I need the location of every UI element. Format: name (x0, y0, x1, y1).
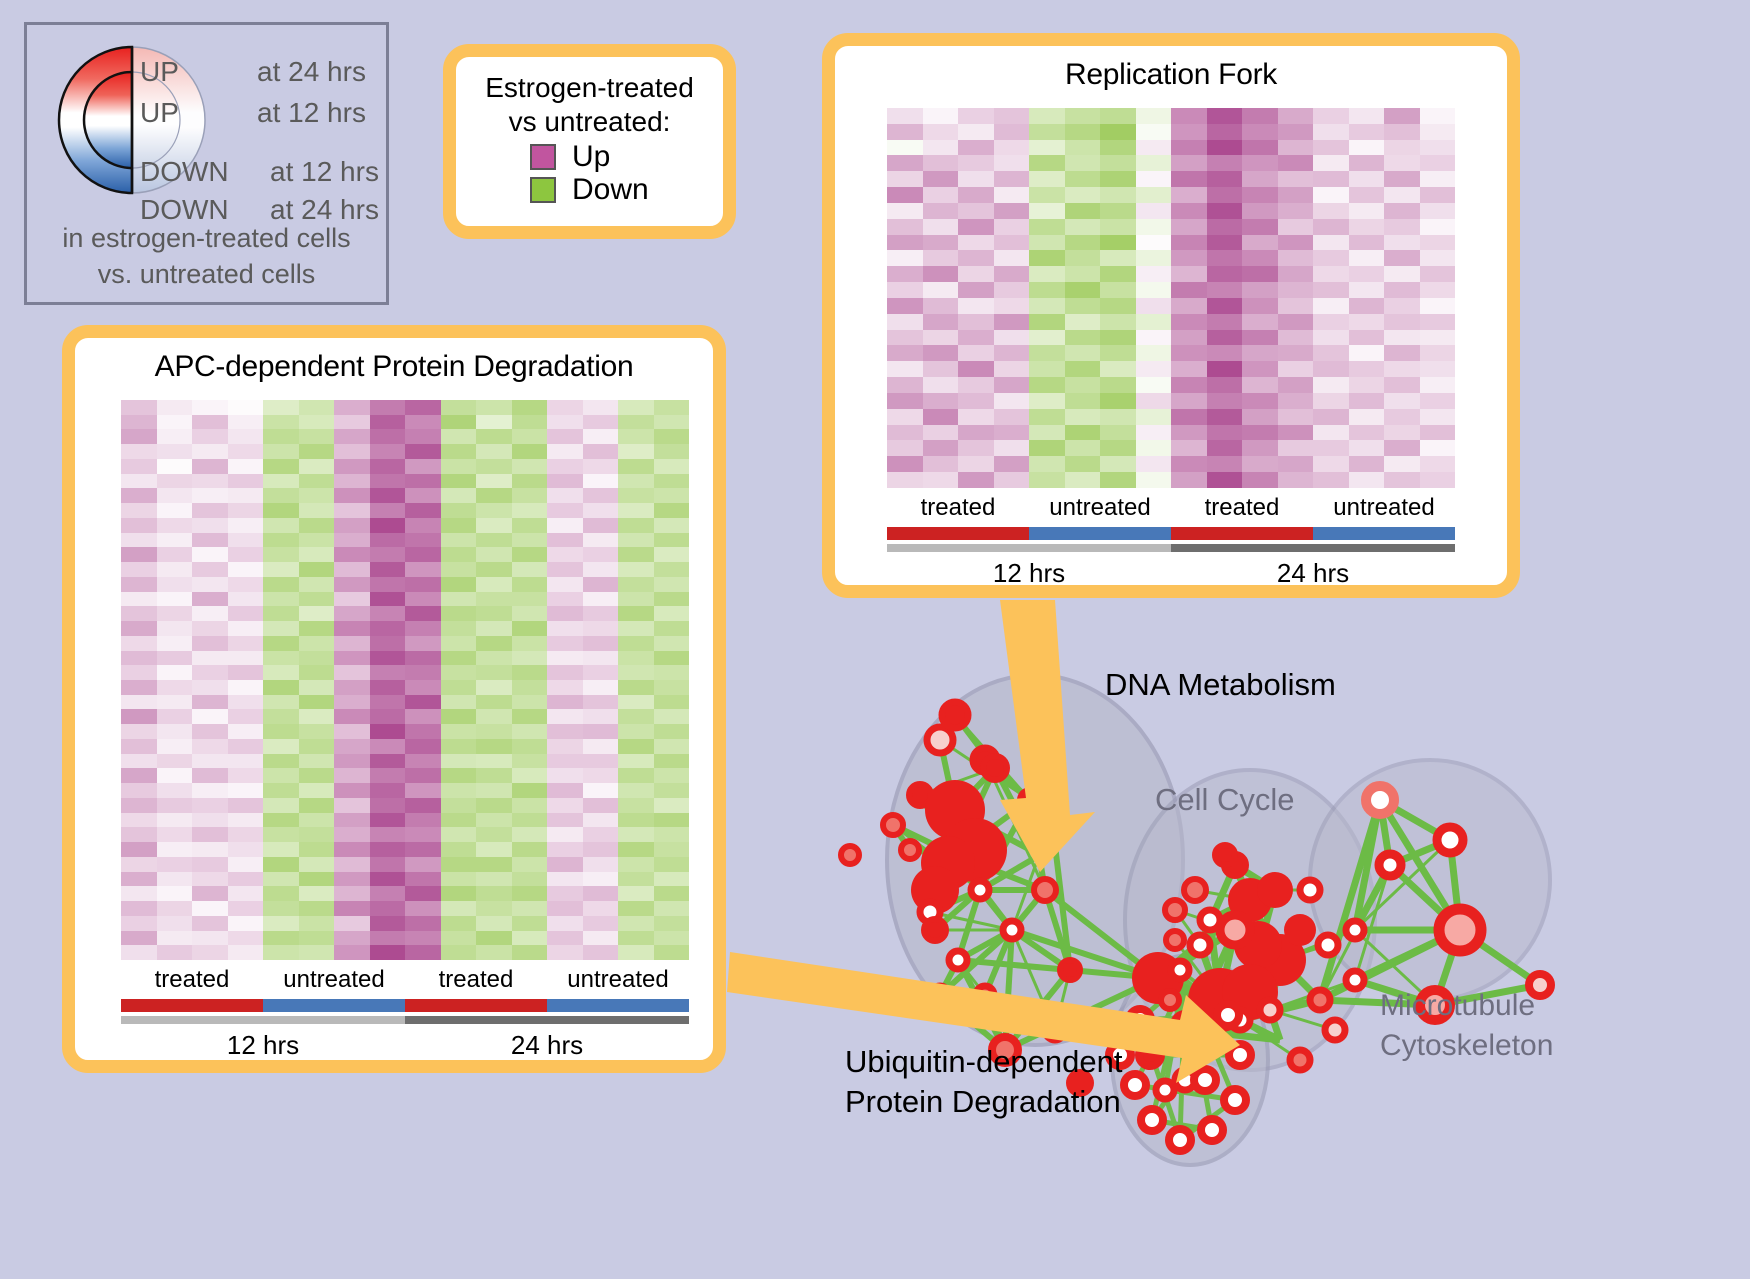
heatmap-cell (547, 754, 583, 769)
heatmap-cell (958, 219, 994, 235)
heatmap-cell (192, 621, 228, 636)
heatmap-cell (405, 562, 441, 577)
heatmap-cell (299, 429, 335, 444)
treatment-bar-treated-24 (405, 999, 547, 1012)
heatmap-cell (583, 636, 619, 651)
heatmap-cell (228, 533, 264, 548)
pathway-network-diagram: DNA Metabolism Cell Cycle Microtubule Cy… (780, 600, 1750, 1279)
heatmap-cell (405, 754, 441, 769)
heatmap-cell (370, 827, 406, 842)
heatmap-cell (476, 533, 512, 548)
heatmap-cell (441, 680, 477, 695)
heatmap-cell (1278, 124, 1314, 140)
heatmap-cell (157, 680, 193, 695)
heatmap-cell (547, 518, 583, 533)
heatmap-cell (405, 415, 441, 430)
heatmap-cell (994, 314, 1030, 330)
heatmap-cell (1420, 361, 1456, 377)
heatmap-cell (370, 886, 406, 901)
legend-item-down: Down (530, 175, 723, 205)
heatmap-cell (370, 901, 406, 916)
key-row-1-label: UP (140, 97, 179, 129)
heatmap-cell (1207, 456, 1243, 472)
heatmap-cell (192, 474, 228, 489)
heatmap-cell (228, 783, 264, 798)
heatmap-cell (887, 377, 923, 393)
heatmap-cell (512, 547, 548, 562)
heatmap-cell (121, 547, 157, 562)
heatmap-cell (121, 444, 157, 459)
heatmap-cell (192, 798, 228, 813)
heatmap-cell (512, 901, 548, 916)
heatmap-cell (1384, 409, 1420, 425)
heatmap-cell (994, 282, 1030, 298)
heatmap-cell (334, 695, 370, 710)
heatmap-cell (157, 768, 193, 783)
heatmap-cell (1278, 250, 1314, 266)
heatmap-cell (476, 503, 512, 518)
heatmap-cell (405, 665, 441, 680)
heatmap-cell (476, 592, 512, 607)
heatmap-cell (192, 886, 228, 901)
heatmap-cell (547, 709, 583, 724)
heatmap-cell (1349, 472, 1385, 488)
heatmap-cell (958, 298, 994, 314)
heatmap-cell (1242, 219, 1278, 235)
heatmap-cell (334, 901, 370, 916)
timepoint-bar-24hrs (405, 1016, 689, 1024)
heatmap-cell (441, 606, 477, 621)
heatmap-cell (476, 872, 512, 887)
heatmap-cell (1207, 187, 1243, 203)
heatmap-cell (958, 377, 994, 393)
treatment-bar-untreated-12 (263, 999, 405, 1012)
heatmap-cell (1349, 314, 1385, 330)
heatmap-cell (547, 872, 583, 887)
heatmap-cell (299, 547, 335, 562)
heatmap-cell (1384, 203, 1420, 219)
heatmap-cell (1313, 282, 1349, 298)
heatmap-cell (263, 916, 299, 931)
heatmap-cell (1065, 393, 1101, 409)
heatmap-cell (370, 724, 406, 739)
heatmap-cell (299, 488, 335, 503)
heatmap-cell (887, 472, 923, 488)
heatmap-cell (1207, 393, 1243, 409)
heatmap-cell (121, 798, 157, 813)
heatmap-cell (923, 377, 959, 393)
heatmap-cell (512, 754, 548, 769)
heatmap-cell (1207, 361, 1243, 377)
heatmap-cell (1278, 472, 1314, 488)
heatmap-cell (299, 459, 335, 474)
heatmap-cell (1242, 203, 1278, 219)
heatmap-cell (192, 488, 228, 503)
heatmap-cell (441, 754, 477, 769)
heatmap-cell (1100, 377, 1136, 393)
heatmap-cell (1349, 187, 1385, 203)
heatmap-cell (618, 518, 654, 533)
heatmap-cell (1171, 361, 1207, 377)
heatmap-cell (1242, 409, 1278, 425)
heatmap-cell (476, 886, 512, 901)
heatmap-cell (958, 124, 994, 140)
heatmap-cell (547, 665, 583, 680)
heatmap-cell (654, 945, 690, 960)
heatmap-cell (405, 503, 441, 518)
heatmap-cell (887, 456, 923, 472)
heatmap-cell (370, 798, 406, 813)
heatmap-cell (1349, 377, 1385, 393)
heatmap-cell (923, 361, 959, 377)
heatmap-cell (263, 857, 299, 872)
heatmap-cell (228, 709, 264, 724)
heatmap-cell (654, 886, 690, 901)
heatmap-cell (1100, 282, 1136, 298)
heatmap-cell (157, 415, 193, 430)
heatmap-cell (476, 916, 512, 931)
heatmap-cell (157, 783, 193, 798)
treatment-bar-treated-24 (1171, 527, 1313, 540)
heatmap-cell (334, 754, 370, 769)
heatmap-cell (1242, 330, 1278, 346)
heatmap-cell (370, 945, 406, 960)
heatmap-cell (887, 140, 923, 156)
heatmap-cell (263, 562, 299, 577)
heatmap-cell (618, 400, 654, 415)
heatmap-cell (1313, 440, 1349, 456)
heatmap-cell (334, 503, 370, 518)
heatmap-cell (547, 901, 583, 916)
heatmap-cell (958, 140, 994, 156)
heatmap-cell (654, 724, 690, 739)
heatmap-cell (370, 518, 406, 533)
heatmap-cell (1313, 298, 1349, 314)
heatmap-cell (618, 886, 654, 901)
heatmap-cell (334, 724, 370, 739)
heatmap-cell (1420, 314, 1456, 330)
heatmap-cell (547, 857, 583, 872)
heatmap-cell (1242, 282, 1278, 298)
heatmap-cell (1349, 298, 1385, 314)
heatmap-cell (263, 606, 299, 621)
heatmap-cell (228, 474, 264, 489)
heatmap-cell (1278, 425, 1314, 441)
heatmap-cell (334, 533, 370, 548)
heatmap-cell (512, 827, 548, 842)
heatmap-cell (512, 651, 548, 666)
heatmap-cell (405, 813, 441, 828)
cluster-label-ubiquitin-line2: Protein Degradation (845, 1084, 1121, 1119)
heatmap-cell (583, 709, 619, 724)
heatmap-cell (405, 488, 441, 503)
heatmap-cell (299, 474, 335, 489)
heatmap-cell (1242, 377, 1278, 393)
heatmap-cell (1278, 377, 1314, 393)
heatmap-cell (228, 768, 264, 783)
heatmap-cell (547, 562, 583, 577)
heatmap-cell (958, 155, 994, 171)
heatmap-cell (121, 709, 157, 724)
heatmap-cell (547, 474, 583, 489)
heatmap-cell (263, 665, 299, 680)
heatmap-cell (1313, 314, 1349, 330)
heatmap-cell (512, 680, 548, 695)
heatmap-cell (512, 724, 548, 739)
heatmap-cell (887, 219, 923, 235)
heatmap-cell (263, 872, 299, 887)
heatmap-cell (1420, 171, 1456, 187)
heatmap-cell (263, 709, 299, 724)
heatmap-cell (958, 314, 994, 330)
heatmap-cell (1065, 266, 1101, 282)
heatmap-cell (263, 429, 299, 444)
heatmap-cell (334, 931, 370, 946)
heatmap-cell (1171, 108, 1207, 124)
heatmap-cell (887, 203, 923, 219)
heatmap-cell (370, 916, 406, 931)
heatmap-cell (334, 872, 370, 887)
heatmap-cell (547, 577, 583, 592)
timepoint-bar-12hrs (121, 1016, 405, 1024)
heatmap-cell (1065, 425, 1101, 441)
heatmap-cell (157, 886, 193, 901)
heatmap-cell (263, 547, 299, 562)
heatmap-cell (1207, 235, 1243, 251)
heatmap-cell (121, 533, 157, 548)
heatmap-cell (958, 361, 994, 377)
heatmap-cell (1171, 155, 1207, 171)
heatmap-cell (1029, 266, 1065, 282)
heatmap-cell (1100, 187, 1136, 203)
heatmap-cell (1029, 108, 1065, 124)
heatmap-cell (370, 842, 406, 857)
legend-down-label: Down (572, 175, 649, 205)
heatmap-cell (512, 709, 548, 724)
heatmap-cell (1278, 330, 1314, 346)
heatmap-cell (263, 488, 299, 503)
heatmap-cell (1100, 393, 1136, 409)
heatmap-cell (476, 488, 512, 503)
heatmap-cell (1065, 330, 1101, 346)
heatmap-cell (1207, 377, 1243, 393)
heatmap-cell (583, 533, 619, 548)
heatmap-cell (263, 813, 299, 828)
heatmap-cell (1384, 266, 1420, 282)
heatmap-cell (1384, 124, 1420, 140)
apc-heatmap (121, 400, 689, 960)
heatmap-cell (887, 250, 923, 266)
heatmap-cell (441, 415, 477, 430)
heatmap-cell (547, 842, 583, 857)
heatmap-cell (1029, 171, 1065, 187)
heatmap-cell (263, 680, 299, 695)
heatmap-cell (994, 187, 1030, 203)
heatmap-cell (1313, 203, 1349, 219)
heatmap-cell (1029, 235, 1065, 251)
timepoint-label-12hrs: 12 hrs (121, 1030, 405, 1061)
heatmap-cell (299, 842, 335, 857)
heatmap-cell (618, 503, 654, 518)
legend-up-label: Up (572, 142, 610, 172)
heatmap-cell (441, 665, 477, 680)
heatmap-cell (1136, 361, 1172, 377)
heatmap-cell (476, 739, 512, 754)
heatmap-cell (299, 518, 335, 533)
heatmap-cell (1171, 314, 1207, 330)
heatmap-cell (405, 709, 441, 724)
heatmap-cell (1420, 140, 1456, 156)
heatmap-cell (1313, 108, 1349, 124)
heatmap-cell (334, 813, 370, 828)
heatmap-cell (618, 680, 654, 695)
heatmap-cell (192, 415, 228, 430)
heatmap-cell (654, 798, 690, 813)
heatmap-cell (121, 886, 157, 901)
heatmap-cell (512, 665, 548, 680)
heatmap-cell (1242, 425, 1278, 441)
heatmap-cell (1384, 235, 1420, 251)
heatmap-cell (228, 547, 264, 562)
heatmap-cell (923, 409, 959, 425)
heatmap-cell (334, 680, 370, 695)
heatmap-cell (1242, 472, 1278, 488)
heatmap-cell (618, 754, 654, 769)
heatmap-cell (923, 235, 959, 251)
heatmap-cell (263, 768, 299, 783)
heatmap-cell (370, 488, 406, 503)
heatmap-cell (476, 577, 512, 592)
treatment-bar-treated-12 (121, 999, 263, 1012)
heatmap-cell (441, 768, 477, 783)
heatmap-cell (476, 827, 512, 842)
panel-apc-degradation: APC-dependent Protein Degradation treate… (62, 325, 726, 1073)
heatmap-cell (512, 916, 548, 931)
heatmap-cell (228, 724, 264, 739)
heatmap-cell (618, 592, 654, 607)
heatmap-cell (370, 621, 406, 636)
heatmap-cell (405, 533, 441, 548)
heatmap-cell (263, 651, 299, 666)
heatmap-cell (1136, 330, 1172, 346)
heatmap-cell (512, 798, 548, 813)
heatmap-cell (1065, 361, 1101, 377)
heatmap-cell (1313, 235, 1349, 251)
heatmap-cell (441, 709, 477, 724)
panel-replication-fork: Replication Fork treated untreated treat… (822, 33, 1520, 598)
heatmap-cell (476, 444, 512, 459)
heatmap-cell (1100, 345, 1136, 361)
heatmap-cell (887, 345, 923, 361)
heatmap-cell (547, 547, 583, 562)
heatmap-cell (994, 377, 1030, 393)
heatmap-cell (958, 235, 994, 251)
heatmap-cell (1100, 235, 1136, 251)
heatmap-cell (923, 140, 959, 156)
heatmap-cell (405, 518, 441, 533)
heatmap-cell (1420, 409, 1456, 425)
heatmap-cell (405, 945, 441, 960)
heatmap-cell (1207, 440, 1243, 456)
heatmap-cell (334, 886, 370, 901)
group-label-2: treated (1171, 494, 1313, 522)
heatmap-cell (1029, 330, 1065, 346)
heatmap-cell (583, 798, 619, 813)
heatmap-cell (405, 547, 441, 562)
heatmap-cell (1349, 456, 1385, 472)
heatmap-cell (121, 827, 157, 842)
heatmap-cell (228, 916, 264, 931)
heatmap-cell (1313, 377, 1349, 393)
heatmap-cell (157, 916, 193, 931)
heatmap-cell (512, 503, 548, 518)
heatmap-cell (1207, 472, 1243, 488)
heatmap-cell (370, 562, 406, 577)
heatmap-cell (1065, 472, 1101, 488)
heatmap-cell (1207, 298, 1243, 314)
heatmap-cell (1313, 456, 1349, 472)
updown-legend-box: Estrogen-treated vs untreated: Up Down (443, 44, 736, 239)
heatmap-cell (476, 813, 512, 828)
heatmap-cell (1313, 425, 1349, 441)
heatmap-cell (654, 621, 690, 636)
heatmap-cell (618, 533, 654, 548)
heatmap-cell (1278, 314, 1314, 330)
heatmap-cell (1242, 235, 1278, 251)
heatmap-cell (263, 459, 299, 474)
heatmap-cell (618, 872, 654, 887)
heatmap-cell (441, 827, 477, 842)
heatmap-cell (923, 330, 959, 346)
heatmap-cell (1100, 298, 1136, 314)
heatmap-cell (405, 636, 441, 651)
heatmap-cell (1349, 282, 1385, 298)
heatmap-cell (994, 250, 1030, 266)
heatmap-cell (1278, 298, 1314, 314)
heatmap-cell (299, 665, 335, 680)
heatmap-cell (157, 577, 193, 592)
heatmap-cell (441, 518, 477, 533)
heatmap-cell (1171, 219, 1207, 235)
heatmap-cell (994, 361, 1030, 377)
heatmap-cell (1349, 345, 1385, 361)
heatmap-cell (441, 547, 477, 562)
heatmap-cell (512, 739, 548, 754)
heatmap-cell (654, 400, 690, 415)
heatmap-cell (121, 695, 157, 710)
heatmap-cell (1313, 393, 1349, 409)
heatmap-cell (547, 592, 583, 607)
heatmap-cell (1100, 124, 1136, 140)
heatmap-cell (157, 798, 193, 813)
heatmap-cell (334, 857, 370, 872)
heatmap-cell (618, 429, 654, 444)
heatmap-cell (192, 857, 228, 872)
heatmap-cell (334, 739, 370, 754)
apc-title: APC-dependent Protein Degradation (75, 350, 713, 384)
heatmap-cell (157, 562, 193, 577)
heatmap-cell (1065, 282, 1101, 298)
heatmap-cell (441, 695, 477, 710)
heatmap-cell (441, 945, 477, 960)
heatmap-cell (157, 665, 193, 680)
heatmap-cell (299, 592, 335, 607)
heatmap-cell (121, 503, 157, 518)
heatmap-cell (1065, 314, 1101, 330)
treatment-bar-untreated-12 (1029, 527, 1171, 540)
heatmap-cell (1029, 203, 1065, 219)
heatmap-cell (476, 901, 512, 916)
